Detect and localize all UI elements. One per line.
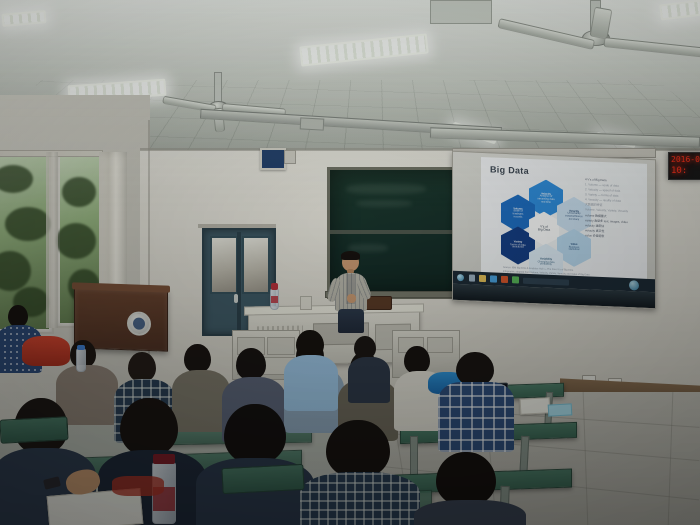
folder-icon[interactable] — [479, 275, 486, 282]
red-jacket — [112, 476, 164, 496]
water-bottle[interactable] — [76, 348, 86, 372]
projector-screen[interactable]: Big Data Velocity Analysis of streaming … — [452, 151, 656, 310]
slide-bullet-list: 4 V's of Big Data 1. Volume — scale of d… — [585, 177, 645, 240]
audience-member-front — [300, 420, 420, 525]
water-bottle[interactable] — [270, 288, 279, 310]
audience-member-plaid — [436, 352, 516, 448]
window-curtain[interactable] — [46, 152, 58, 328]
classroom-photo: 2016-0 10: — [0, 0, 700, 525]
office-icon[interactable] — [501, 276, 508, 283]
hexagon-volume-line3: records — [514, 216, 523, 219]
ceiling-vent — [430, 0, 492, 24]
taskbar-window-button[interactable] — [523, 278, 569, 286]
audience-member-front — [414, 452, 524, 525]
projector — [300, 117, 325, 130]
hexagon-variety-line2: structured — [512, 247, 524, 250]
start-orb-icon[interactable] — [457, 274, 464, 281]
red-jacket — [22, 336, 70, 366]
wall-switch[interactable] — [284, 150, 296, 164]
lectern-emblem — [127, 311, 151, 336]
hexagon-veracity-line3: accuracy — [569, 218, 579, 221]
media-icon[interactable] — [490, 275, 497, 282]
led-time: 10: — [671, 166, 687, 176]
projected-slide: Big Data Velocity Analysis of streaming … — [481, 157, 647, 290]
chair-back — [0, 416, 69, 444]
hexagon-velocity-line3: real time — [541, 201, 551, 204]
chair-back — [221, 464, 304, 494]
slide-bullet: value 价值密度 — [585, 233, 645, 241]
browser-icon[interactable] — [469, 274, 475, 281]
tray-icon[interactable] — [629, 280, 639, 290]
notebook[interactable] — [520, 397, 551, 415]
hexagon-center-line2: Big Data — [538, 228, 550, 232]
door-lintel — [198, 224, 276, 228]
presenter-trousers — [338, 309, 364, 333]
led-date: 2016-0 — [671, 155, 700, 164]
slide-title: Big Data — [490, 164, 529, 176]
audience-member — [348, 336, 390, 398]
wall-display-panel[interactable] — [260, 148, 286, 170]
door-handle[interactable] — [234, 294, 238, 303]
audience-member — [282, 330, 338, 404]
presenter-hair — [341, 251, 360, 260]
hexagon-value-line2: statistical — [569, 249, 580, 252]
chat-icon[interactable] — [512, 276, 519, 283]
presenter-hands — [347, 294, 356, 303]
blue-card — [548, 403, 573, 416]
paper-stack — [300, 296, 312, 310]
ceiling-fan — [520, 0, 700, 70]
presenter — [325, 252, 377, 330]
led-clock: 2016-0 10: — [668, 152, 700, 180]
